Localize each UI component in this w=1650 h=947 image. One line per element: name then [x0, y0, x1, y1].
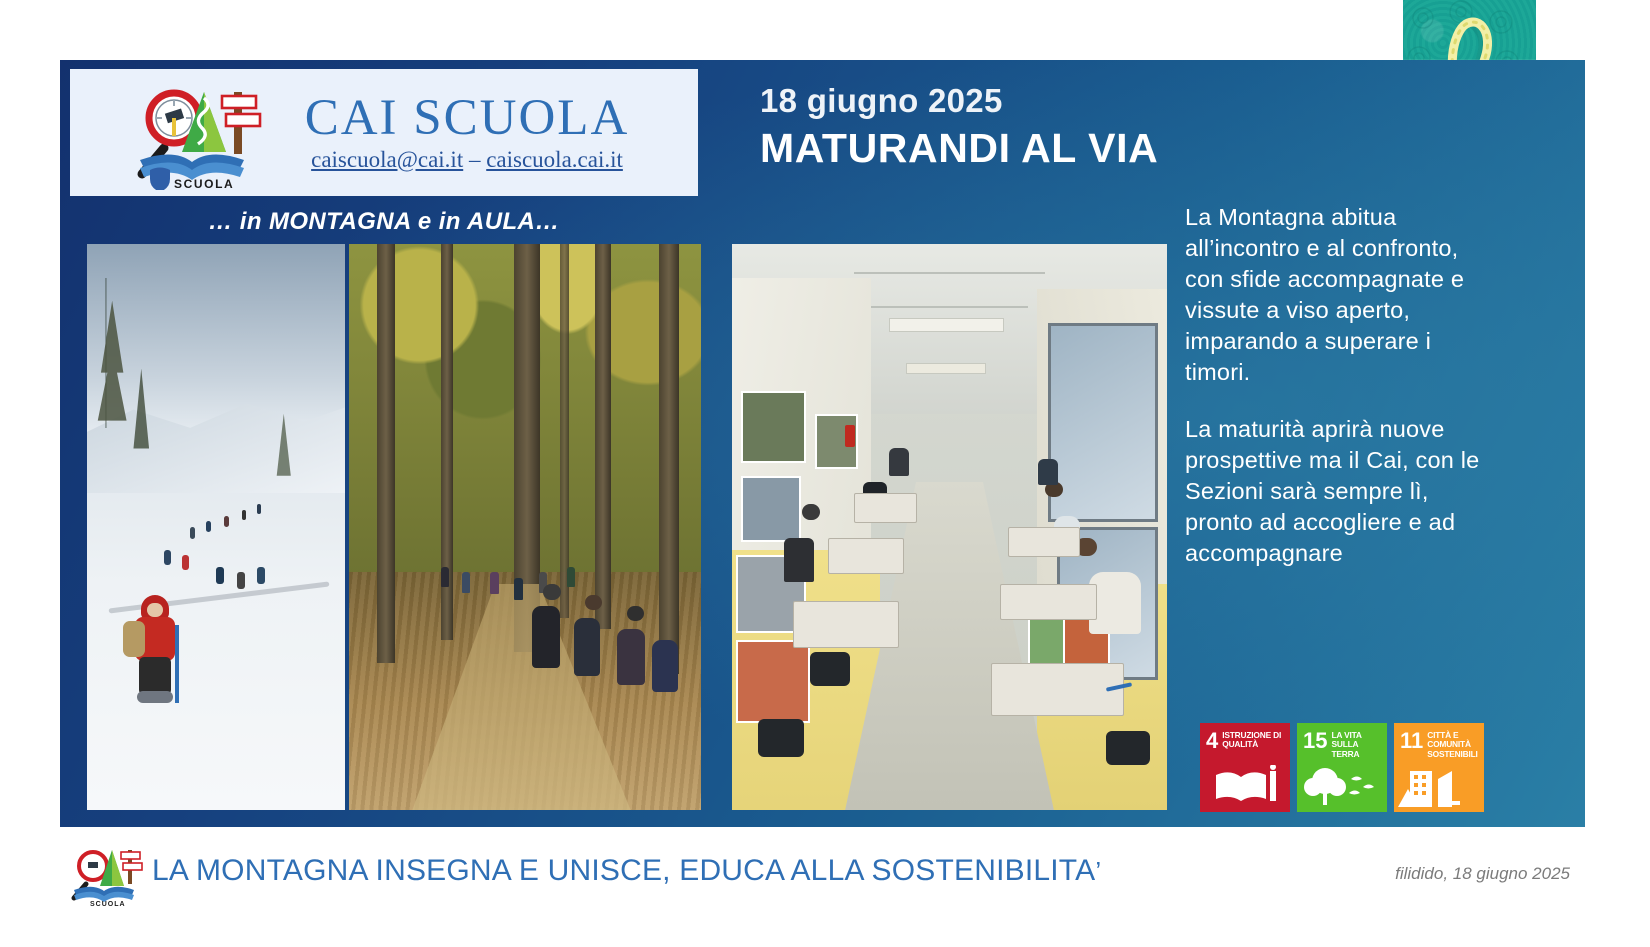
sdg-badge-15[interactable]: 15 LA VITA SULLA TERRA	[1297, 723, 1387, 812]
sdg-badge-15-label: LA VITA SULLA TERRA	[1331, 731, 1382, 759]
footer-tagline: LA MONTAGNA INSEGNA E UNISCE, EDUCA ALLA…	[152, 854, 1101, 888]
sdg-badge-11[interactable]: 11 CITTÀ E COMUNITÀ SOSTENIBILI	[1394, 723, 1484, 812]
letterhead-contacts: caiscuola@cai.it – caiscuola.cai.it	[262, 147, 672, 173]
sdg-badge-4[interactable]: 4 ISTRUZIONE DI QUALITÀ	[1200, 723, 1290, 812]
cai-scuola-logo-icon: SCUOLA	[66, 844, 144, 906]
sdg-badge-11-number: 11	[1400, 731, 1423, 752]
sdg-badge-11-head: 11 CITTÀ E COMUNITÀ SOSTENIBILI	[1394, 723, 1484, 759]
sdg-badge-row: 4 ISTRUZIONE DI QUALITÀ 15 LA VITA SULLA…	[1200, 723, 1484, 812]
slide-header: 18 giugno 2025 MATURANDI AL VIA	[760, 82, 1158, 172]
photo-autumn-forest-hike	[349, 244, 701, 810]
sdg-badge-4-number: 4	[1206, 731, 1218, 752]
body-paragraph-2: La maturità aprirà nuove prospettive ma …	[1185, 414, 1480, 569]
body-paragraph-1: La Montagna abitua all’incontro e al con…	[1185, 202, 1480, 388]
letterhead-website[interactable]: caiscuola.cai.it	[486, 147, 623, 172]
letterhead-email[interactable]: caiscuola@cai.it	[311, 147, 463, 172]
footer-tagline-apostrophe: ’	[1095, 856, 1101, 886]
slide-date: 18 giugno 2025	[760, 82, 1158, 120]
tree-birds-icon	[1297, 765, 1387, 807]
photo-classroom-exam	[732, 244, 1167, 810]
sdg-badge-15-head: 15 LA VITA SULLA TERRA	[1297, 723, 1387, 759]
sdg-badge-11-label: CITTÀ E COMUNITÀ SOSTENIBILI	[1427, 731, 1479, 759]
sdg-badge-4-head: 4 ISTRUZIONE DI QUALITÀ	[1200, 723, 1290, 752]
slide-title: MATURANDI AL VIA	[760, 125, 1158, 172]
photo-snowshoeing-group	[87, 244, 345, 810]
body-copy: La Montagna abitua all’incontro e al con…	[1185, 202, 1480, 595]
slide-footer: SCUOLA LA MONTAGNA INSEGNA E UNISCE, EDU…	[0, 832, 1650, 947]
cai-scuola-logo-icon: SCUOLA	[122, 78, 262, 188]
svg-text:SCUOLA: SCUOLA	[90, 901, 126, 906]
buildings-icon	[1394, 765, 1484, 807]
footer-tagline-text: LA MONTAGNA INSEGNA E UNISCE, EDUCA ALLA…	[152, 854, 1095, 887]
footer-credit: filidido, 18 giugno 2025	[1395, 864, 1570, 884]
presentation-slide: SCUOLA CAI SCUOLA caiscuola@cai.it – cai…	[0, 0, 1650, 947]
open-book-icon	[1200, 765, 1290, 807]
slide-subtitle: … in MONTAGNA e in AULA…	[70, 208, 698, 236]
svg-text:SCUOLA: SCUOLA	[174, 177, 234, 190]
slide-panel: SCUOLA CAI SCUOLA caiscuola@cai.it – cai…	[60, 60, 1585, 827]
letterhead-text: CAI SCUOLA caiscuola@cai.it – caiscuola.…	[262, 92, 698, 172]
letterhead-separator: –	[463, 147, 486, 172]
sdg-badge-4-label: ISTRUZIONE DI QUALITÀ	[1222, 731, 1285, 750]
cai-scuola-letterhead: SCUOLA CAI SCUOLA caiscuola@cai.it – cai…	[70, 69, 698, 196]
sdg-badge-15-number: 15	[1303, 731, 1327, 752]
letterhead-title: CAI SCUOLA	[262, 92, 672, 144]
